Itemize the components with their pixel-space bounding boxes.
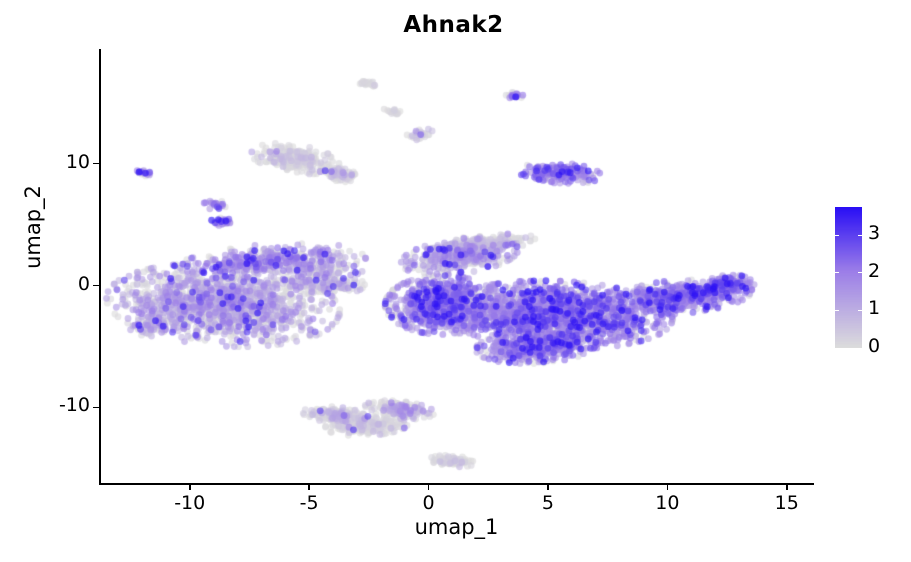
colorbar-gradient: [835, 207, 862, 348]
x-tick-label: 0: [399, 492, 459, 514]
colorbar: [835, 207, 862, 348]
colorbar-tick-label: 2: [868, 260, 880, 282]
x-tick-label: -5: [279, 492, 339, 514]
x-tick-mark: [308, 484, 310, 490]
x-tick-mark: [667, 484, 669, 490]
colorbar-tick-mark: [858, 310, 862, 311]
y-tick-mark: [93, 163, 99, 165]
x-tick-mark: [189, 484, 191, 490]
page-title: Ahnak2: [0, 12, 909, 38]
colorbar-tick-label: 3: [868, 222, 880, 244]
x-axis-label: umap_1: [99, 515, 814, 539]
x-tick-label: 10: [637, 492, 697, 514]
x-tick-mark: [786, 484, 788, 490]
colorbar-tick-label: 0: [868, 335, 880, 357]
x-tick-label: 5: [518, 492, 578, 514]
colorbar-tick-mark: [858, 235, 862, 236]
colorbar-tick-label: 1: [868, 297, 880, 319]
x-tick-label: -10: [160, 492, 220, 514]
y-axis-label: umap_2: [21, 117, 45, 337]
x-axis-spine: [99, 483, 814, 485]
colorbar-tick-mark: [835, 272, 839, 273]
colorbar-tick-mark: [835, 235, 839, 236]
colorbar-tick-mark: [835, 310, 839, 311]
y-axis-spine: [99, 49, 101, 484]
x-tick-mark: [547, 484, 549, 490]
scatter-points-canvas: [99, 49, 813, 483]
y-tick-label: -10: [30, 394, 90, 416]
x-tick-label: 15: [757, 492, 817, 514]
colorbar-tick-mark: [858, 272, 862, 273]
y-tick-mark: [93, 407, 99, 409]
y-tick-mark: [93, 285, 99, 287]
x-tick-mark: [428, 484, 430, 490]
umap-feature-plot: Ahnak2 -10-5051015 -10010 umap_1 umap_2 …: [0, 0, 911, 562]
plot-area: [99, 49, 813, 483]
